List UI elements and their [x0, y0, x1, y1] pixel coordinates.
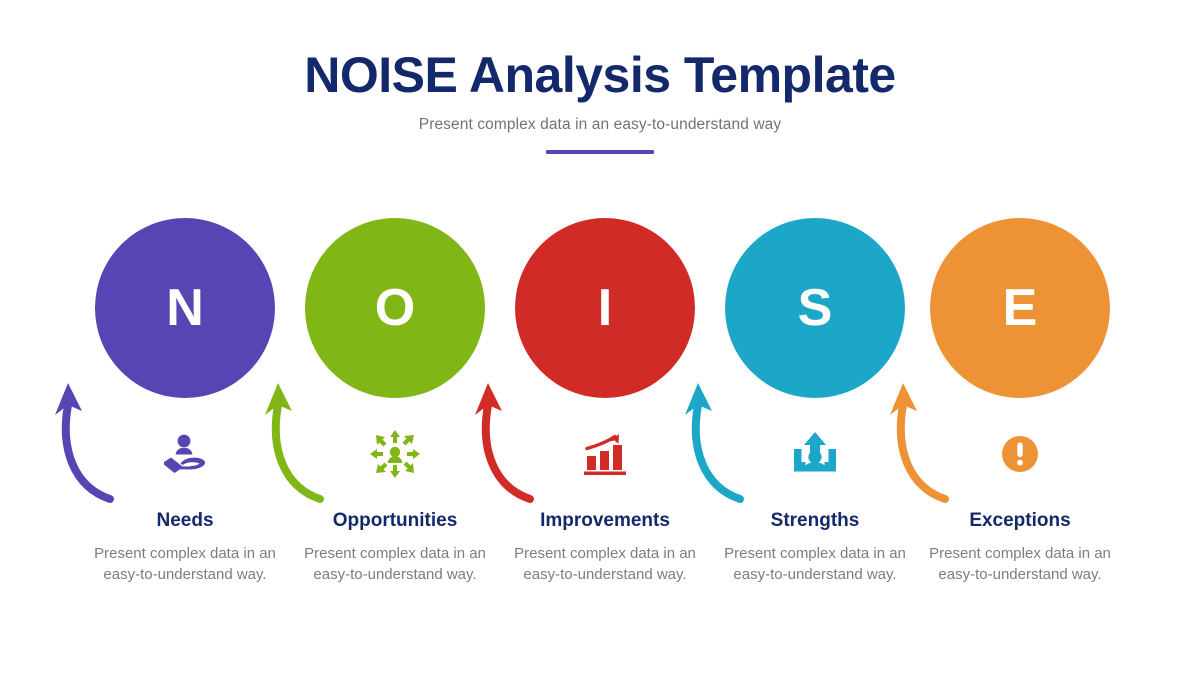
page-title: NOISE Analysis Template	[0, 48, 1200, 102]
slide-canvas: NOISE Analysis Template Present complex …	[0, 0, 1200, 675]
noise-columns: N Needs Present complex data in an easy-…	[0, 205, 1200, 645]
item-description: Present complex data in an easy-to-under…	[500, 543, 710, 586]
item-label: Strengths	[710, 510, 920, 532]
bubble-letter-text: S	[798, 282, 833, 334]
hand-holding-person-icon	[80, 423, 290, 485]
page-subtitle: Present complex data in an easy-to-under…	[0, 116, 1200, 134]
bubble-letter-text: O	[375, 282, 415, 334]
item-label: Improvements	[500, 510, 710, 532]
person-expand-arrows-icon	[290, 423, 500, 485]
letter-bubble-s[interactable]: S	[725, 218, 905, 398]
letter-bubble-e[interactable]: E	[930, 218, 1110, 398]
noise-item-improvements[interactable]: I Improvements Present complex data in a…	[500, 205, 710, 645]
bubble-letter-text: E	[1003, 282, 1038, 334]
slide-header: NOISE Analysis Template Present complex …	[0, 48, 1200, 154]
item-label: Exceptions	[915, 510, 1125, 532]
item-description: Present complex data in an easy-to-under…	[290, 543, 500, 586]
letter-bubble-i[interactable]: I	[515, 218, 695, 398]
title-underline-rule	[546, 150, 654, 154]
item-description: Present complex data in an easy-to-under…	[915, 543, 1125, 586]
noise-item-opportunities[interactable]: O Opportunities Present complex data in	[290, 205, 500, 645]
item-description: Present complex data in an easy-to-under…	[710, 543, 920, 586]
bubble-letter-text: N	[166, 282, 204, 334]
growth-bar-chart-icon	[500, 423, 710, 485]
item-description: Present complex data in an easy-to-under…	[80, 543, 290, 586]
item-label: Opportunities	[290, 510, 500, 532]
exclamation-circle-icon	[915, 423, 1125, 485]
noise-item-needs[interactable]: N Needs Present complex data in an easy-…	[80, 205, 290, 645]
letter-bubble-o[interactable]: O	[305, 218, 485, 398]
bubble-letter-text: I	[598, 282, 612, 334]
letter-bubble-n[interactable]: N	[95, 218, 275, 398]
item-label: Needs	[80, 510, 290, 532]
noise-item-exceptions[interactable]: E Exceptions Present complex data in an …	[915, 205, 1125, 645]
